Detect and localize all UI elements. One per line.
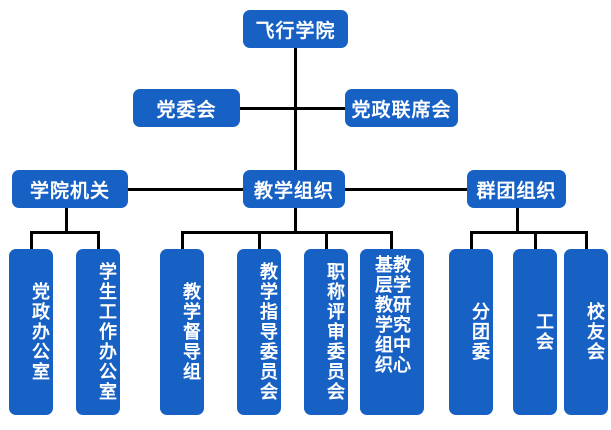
node-mass-organizations[interactable]: 群团组织 xyxy=(467,170,566,208)
node-student-affairs-office[interactable]: 学生工作办公室 xyxy=(76,249,120,415)
connector-committee-right xyxy=(294,107,345,110)
connector-teaching-child-2 xyxy=(258,231,261,249)
node-teaching-guidance-committee[interactable]: 教学指导委员会 xyxy=(237,249,281,415)
connector-teaching-child-3 xyxy=(325,231,328,249)
node-teaching-research-center-label: 教学研究中心 xyxy=(392,255,410,375)
connector-divisions-left xyxy=(128,188,243,191)
connector-teaching-bus xyxy=(181,231,393,234)
node-labor-union[interactable]: 工会 xyxy=(513,249,557,415)
node-title-review-committee[interactable]: 职称评审委员会 xyxy=(304,249,348,415)
connector-massorg-child-2 xyxy=(534,231,537,249)
node-teaching-organization[interactable]: 教学组织 xyxy=(243,170,345,208)
connector-committee-left xyxy=(240,107,295,110)
connector-teaching-child-4 xyxy=(390,231,393,249)
node-alumni-association[interactable]: 校友会 xyxy=(564,249,608,415)
connector-massorg-child-3 xyxy=(585,231,588,249)
connector-admin-child-2 xyxy=(97,231,100,249)
connector-admin-bus xyxy=(30,231,100,234)
connector-massorg-drop xyxy=(516,207,519,232)
connector-massorg-bus xyxy=(470,231,587,234)
connector-teaching-drop xyxy=(294,207,297,232)
node-party-government-office[interactable]: 党政办公室 xyxy=(9,249,53,415)
connector-admin-drop xyxy=(65,207,68,232)
node-party-committee[interactable]: 党委会 xyxy=(133,89,240,127)
node-college-administration[interactable]: 学院机关 xyxy=(12,170,128,208)
node-teaching-research-center[interactable]: 教学研究中心 基层教学组织 xyxy=(360,249,424,415)
node-teaching-supervision-group[interactable]: 教学督导组 xyxy=(160,249,204,415)
node-joint-meeting[interactable]: 党政联席会 xyxy=(345,89,458,127)
connector-divisions-right xyxy=(345,188,467,191)
node-root[interactable]: 飞行学院 xyxy=(243,10,348,48)
connector-massorg-child-1 xyxy=(470,231,473,249)
org-chart: 飞行学院 党委会 党政联席会 学院机关 教学组织 群团组织 党政办公室 学生工作… xyxy=(0,0,611,430)
connector-admin-child-1 xyxy=(30,231,33,249)
node-branch-youth-league[interactable]: 分团委 xyxy=(449,249,493,415)
connector-teaching-child-1 xyxy=(181,231,184,249)
node-grassroots-teaching-organization-label: 基层教学组织 xyxy=(374,255,392,375)
